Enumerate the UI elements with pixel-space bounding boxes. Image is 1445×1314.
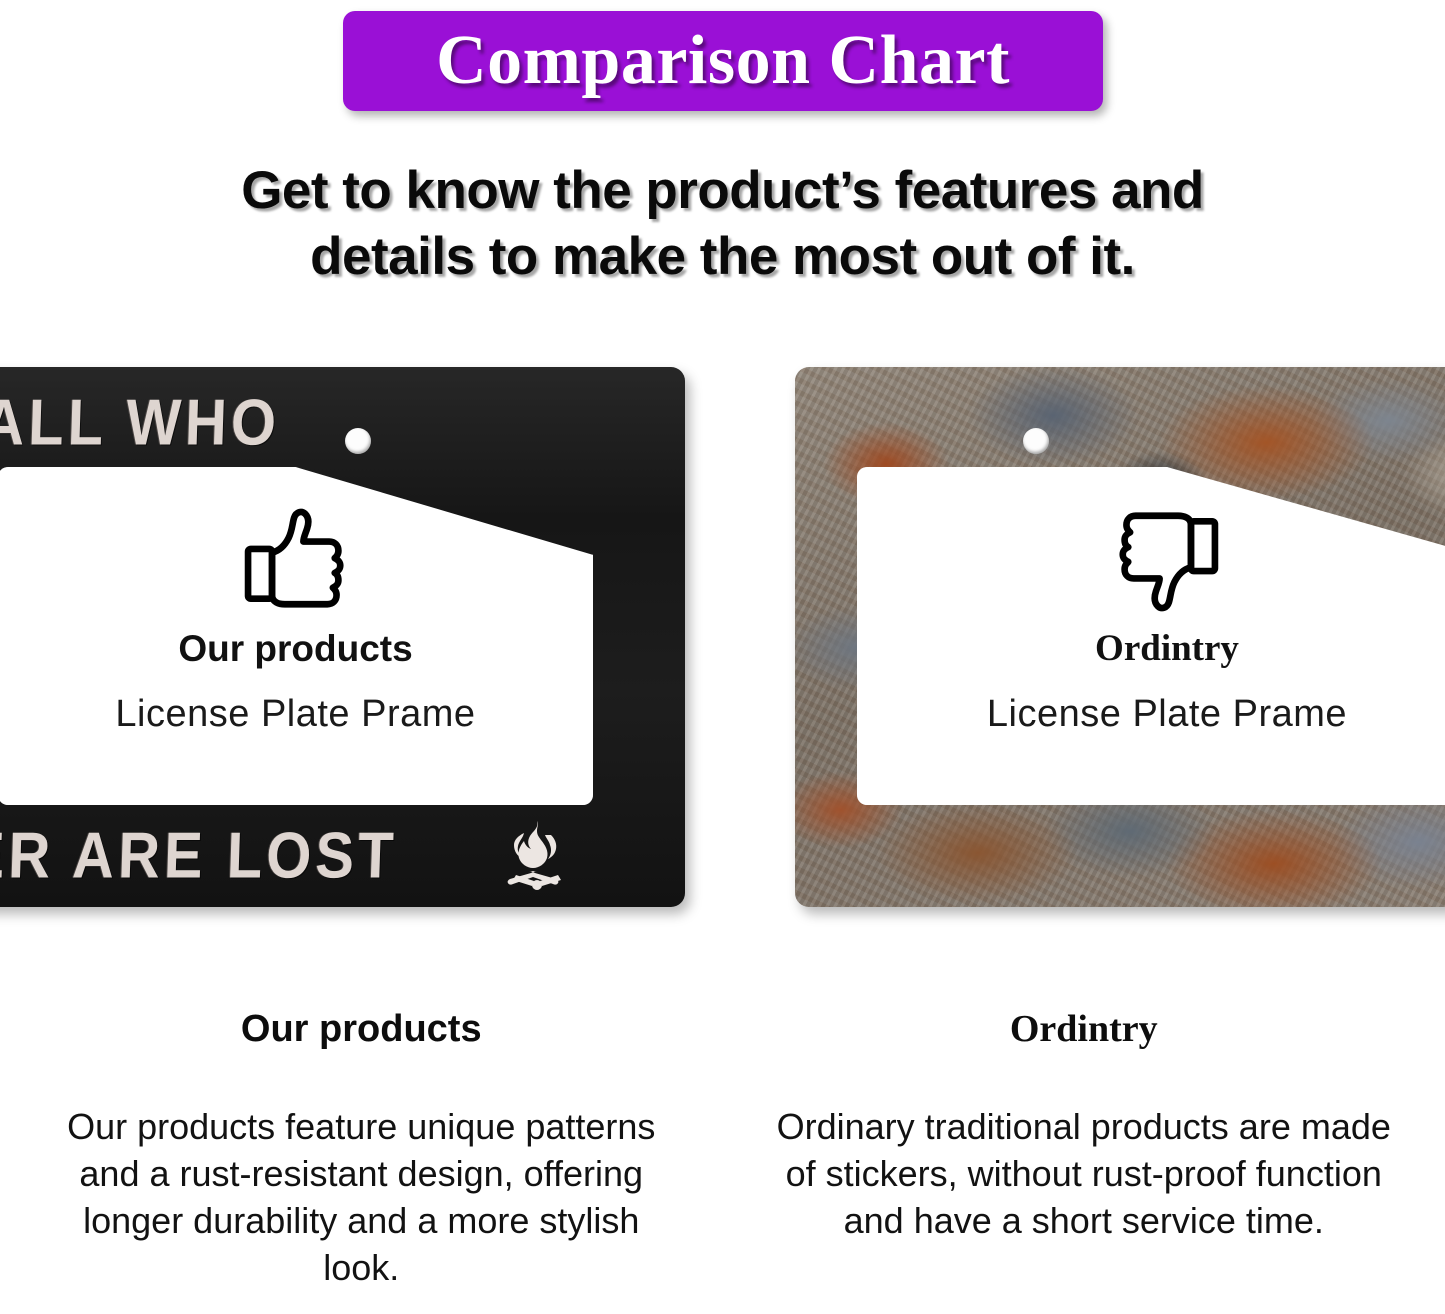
rusty-license-plate-frame: Ordintry License Plate Prame	[795, 367, 1445, 907]
campfire-icon	[502, 819, 572, 893]
subtitle-line-1: Get to know the product’s features and	[0, 158, 1445, 224]
description-heading: Our products	[45, 1009, 678, 1051]
thumbs-up-icon	[237, 501, 355, 619]
frame-text-top: OT ALL WHO	[0, 385, 281, 460]
product-label: License Plate Prame	[857, 694, 1445, 736]
brand-label: Ordintry	[857, 629, 1445, 670]
our-product-description-column: Our products Our products feature unique…	[0, 985, 723, 1314]
subtitle: Get to know the product’s features and d…	[0, 158, 1445, 290]
plate-window: Ordintry License Plate Prame	[857, 467, 1445, 805]
page-title: Comparison Chart	[436, 26, 1010, 96]
comparison-descriptions: Our products Our products feature unique…	[0, 985, 1445, 1314]
description-body: Our products feature unique patterns and…	[45, 1103, 678, 1291]
description-heading: Ordintry	[768, 1009, 1401, 1051]
black-license-plate-frame: OT ALL WHO NDER ARE LOST	[0, 367, 685, 907]
thumbs-down-icon	[1108, 501, 1226, 619]
product-comparison-images: OT ALL WHO NDER ARE LOST	[0, 355, 1445, 920]
mounting-hole	[345, 428, 371, 454]
our-product-frame: OT ALL WHO NDER ARE LOST	[0, 355, 685, 920]
description-body: Ordinary traditional products are made o…	[768, 1103, 1401, 1244]
plate-window: Our products License Plate Prame	[0, 467, 593, 805]
mounting-hole	[1023, 428, 1049, 454]
product-label: License Plate Prame	[0, 694, 593, 736]
ordinary-product-description-column: Ordintry Ordinary traditional products a…	[723, 985, 1445, 1314]
brand-label: Our products	[0, 629, 593, 670]
frame-text-bottom: NDER ARE LOST	[0, 818, 399, 893]
ordinary-product-frame: Ordintry License Plate Prame	[795, 355, 1445, 920]
comparison-chart-banner: Comparison Chart	[343, 11, 1103, 111]
subtitle-line-2: details to make the most out of it.	[0, 224, 1445, 290]
